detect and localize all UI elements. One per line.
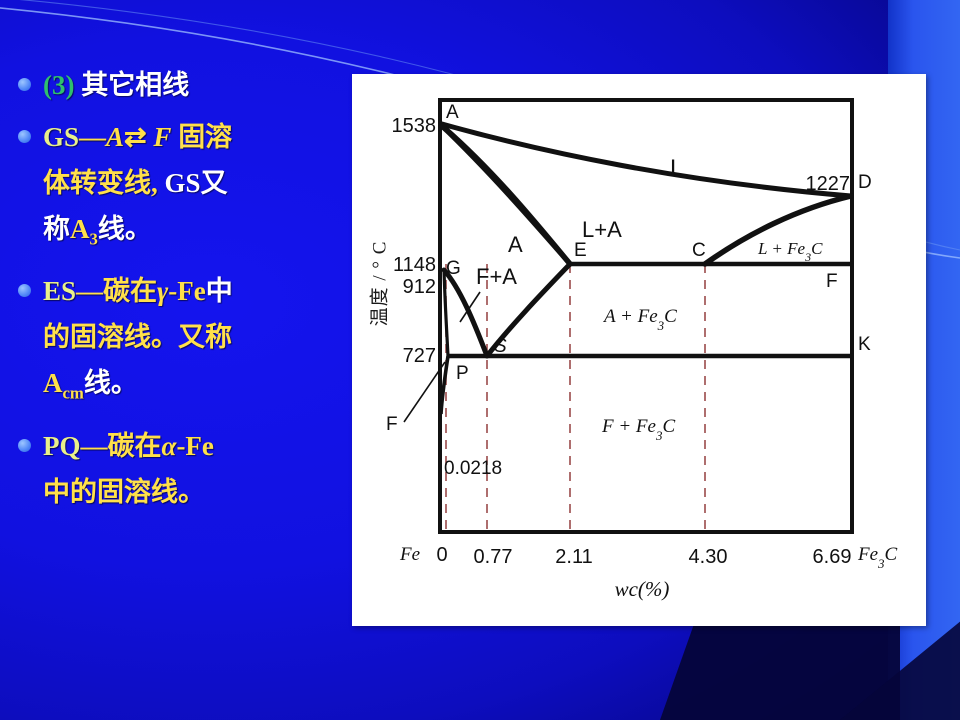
text-cont: 中的固溶线。 (43, 477, 205, 507)
region-label-L: L (670, 155, 683, 182)
gs-label-2: GS (165, 168, 201, 198)
x-tick-4.30: 4.30 (689, 546, 728, 568)
gs-label: GS (43, 122, 79, 152)
annotation-0.0218: 0.0218 (444, 458, 502, 479)
point-label-E: E (574, 240, 587, 261)
value-label-1227: 1227 (806, 173, 851, 195)
x-tick-labels: 0 0.77 2.11 4.30 6.69 (436, 544, 851, 568)
text-cont: 线。 (84, 368, 138, 398)
austenite-symbol: A (106, 122, 124, 152)
bullet-1-line-1-seg-1: (3) (43, 70, 81, 100)
x-tick-2.11: 2.11 (555, 546, 592, 568)
list-item[interactable]: ES—碳在γ-Fe中 的固溶线。又称 Acm线。 (18, 268, 348, 416)
x-tick-0.77: 0.77 (474, 546, 513, 568)
phase-diagram-panel: 温度 / ° C (352, 74, 926, 626)
fe-symbol: -Fe (176, 431, 213, 461)
text-cont: 中 (206, 276, 233, 306)
text-cont: 的固溶线。又称 (43, 322, 232, 352)
x-tick-6.69: 6.69 (813, 546, 852, 568)
point-label-C: C (692, 240, 706, 261)
a3-subscript: 3 (90, 229, 98, 248)
ferrite-symbol: F (153, 122, 171, 152)
text-cont: 线。 (98, 214, 152, 244)
x-axis-label: wc(%) (615, 577, 670, 601)
list-item[interactable]: GS—A⇄ F 固溶 体转变线, GS又 称A3线。 (18, 114, 348, 262)
bullet-list: (3) 其它相线 GS—A⇄ F 固溶 体转变线, GS又 称A3线。 ES—碳… (18, 62, 348, 521)
bullet-4-line-1: PQ—碳在α-Fe (43, 423, 214, 469)
acm-label: A (43, 368, 63, 398)
dash: — (79, 122, 106, 152)
point-label-A: A (446, 102, 459, 123)
point-label-S: S (494, 336, 507, 357)
point-label-F-1148: F (826, 271, 838, 292)
y-tick-727: 727 (403, 345, 436, 367)
list-item[interactable]: (3) 其它相线 (18, 62, 348, 108)
acm-subscript: cm (63, 384, 84, 403)
bullet-2-line-3: 称A3线。 (43, 206, 232, 262)
list-item[interactable]: PQ—碳在α-Fe 中的固溶线。 (18, 423, 348, 515)
region-label-F-plus-A: F+A (476, 264, 517, 289)
equilibrium-arrow-icon: ⇄ (124, 122, 153, 152)
bullet-dot-icon (18, 78, 31, 91)
bullet-2-line-1: GS—A⇄ F 固溶 (43, 114, 232, 160)
a3-label: A (70, 214, 90, 244)
text-cont: 固溶 (171, 122, 232, 152)
bullet-3-line-1: ES—碳在γ-Fe中 (43, 268, 233, 314)
pq-label: PQ (43, 431, 81, 461)
bullet-3-line-3: Acm线。 (43, 360, 233, 416)
point-label-K: K (858, 334, 871, 355)
text-cont: —碳在 (81, 431, 162, 461)
x-end-label-Fe3C: Fe3C (857, 544, 898, 571)
bullet-4-line-2: 中的固溶线。 (43, 469, 214, 515)
bullet-dot-icon (18, 439, 31, 452)
point-label-P: P (456, 363, 469, 384)
y-tick-912: 912 (403, 276, 436, 298)
alpha-symbol: α (162, 431, 177, 461)
bullet-dot-icon (18, 130, 31, 143)
gamma-symbol: γ (157, 276, 168, 306)
bullet-1-line-1-seg-2: 其它相线 (81, 70, 189, 100)
comma: , (151, 168, 165, 198)
y-tick-labels: 1538 1148 912 727 (392, 115, 437, 367)
x-tick-0: 0 (436, 544, 447, 566)
region-label-A: A (508, 232, 523, 257)
text-cont: 又 (201, 168, 228, 198)
text-cont: 体转变线 (43, 168, 151, 198)
text-cont: —碳在 (76, 276, 157, 306)
bullet-text: ES—碳在γ-Fe中 的固溶线。又称 Acm线。 (43, 268, 233, 416)
bullet-text: PQ—碳在α-Fe 中的固溶线。 (43, 423, 214, 515)
iron-carbon-phase-diagram: A D E C F G S P K F 1538 1148 912 727 12… (352, 74, 926, 626)
region-label-L-plus-A: L+A (582, 217, 622, 242)
bullet-text: (3) 其它相线 (43, 62, 189, 108)
y-tick-1538: 1538 (392, 115, 437, 137)
point-label-D: D (858, 172, 872, 193)
bullet-text: GS—A⇄ F 固溶 体转变线, GS又 称A3线。 (43, 114, 232, 262)
x-end-label-Fe: Fe (399, 544, 420, 565)
slide-root: (3) 其它相线 GS—A⇄ F 固溶 体转变线, GS又 称A3线。 ES—碳… (0, 0, 960, 720)
point-label-G: G (446, 258, 461, 279)
bullet-3-line-2: 的固溶线。又称 (43, 314, 233, 360)
es-label: ES (43, 276, 76, 306)
bullet-2-line-2: 体转变线, GS又 (43, 160, 232, 206)
y-tick-1148: 1148 (393, 254, 436, 276)
point-label-F-ferrite: F (386, 414, 398, 435)
fe-symbol: -Fe (168, 276, 205, 306)
text-cont: 称 (43, 214, 70, 244)
bullet-dot-icon (18, 284, 31, 297)
